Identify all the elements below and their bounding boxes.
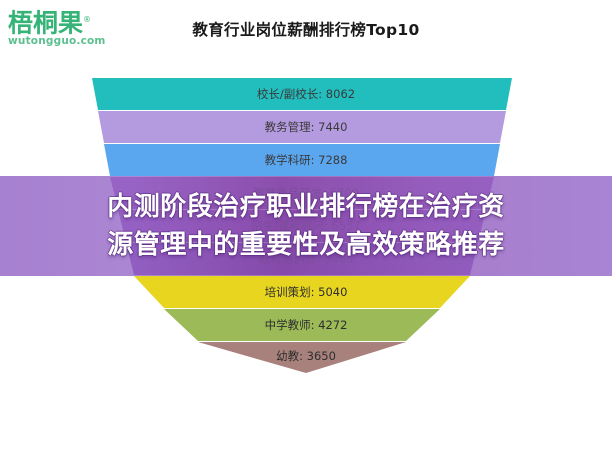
headline-overlay-banner: 内测阶段治疗职业排行榜在治疗资 源管理中的重要性及高效策略推荐 xyxy=(0,176,612,276)
funnel-band-9[interactable] xyxy=(198,342,406,373)
funnel-band-2[interactable] xyxy=(98,111,506,143)
screenshot-root: 梧桐果® wutongguo.com 教育行业岗位薪酬排行榜Top10 xyxy=(0,0,612,450)
headline-line-2: 源管理中的重要性及高效策略推荐 xyxy=(107,226,505,264)
funnel-band-8[interactable] xyxy=(164,309,440,341)
funnel-band-1[interactable] xyxy=(92,78,512,110)
headline-line-1: 内测阶段治疗职业排行榜在治疗资 xyxy=(107,188,505,226)
headline-text-block: 内测阶段治疗职业排行榜在治疗资 源管理中的重要性及高效策略推荐 xyxy=(0,176,612,276)
funnel-band-7[interactable] xyxy=(134,276,470,308)
funnel-band-3[interactable] xyxy=(104,144,500,176)
